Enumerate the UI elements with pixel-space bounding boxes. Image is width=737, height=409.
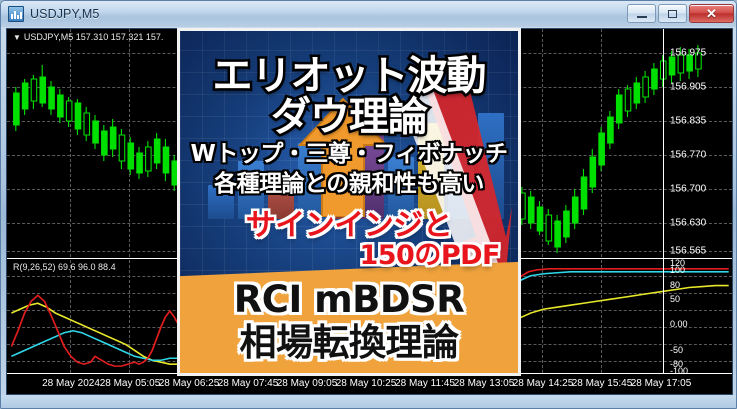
indicator-header: R(9,26,52) 69.6 96.0 88.4 <box>13 262 116 272</box>
chart-window-icon <box>8 6 24 22</box>
time-label: 28 May 07:45 <box>218 378 279 389</box>
price-label: 156.770 <box>670 150 706 161</box>
time-label: 28 May 10:25 <box>336 378 397 389</box>
promo-red-2: 150のPDF <box>180 241 500 271</box>
promo-red-1: サインインジと <box>180 209 518 243</box>
price-label: 156.975 <box>670 48 706 59</box>
price-scale[interactable]: 156.975 156.905 156.835 156.770 156.700 … <box>664 29 732 257</box>
time-label: 28 May 06:25 <box>159 378 220 389</box>
indicator-scale-label: 50 <box>670 294 680 304</box>
indicator-scale-label: 80 <box>670 280 680 290</box>
time-label: 28 May 05:05 <box>100 378 161 389</box>
mt4-chart-window: USDJPY,M5 ✕ <box>0 0 737 409</box>
collapse-triangle-icon[interactable]: ▼ <box>13 33 21 42</box>
minimize-button[interactable] <box>627 4 656 23</box>
time-label: 28 May 13:05 <box>454 378 515 389</box>
promo-headline-1: エリオット波動 <box>180 55 518 97</box>
close-button[interactable]: ✕ <box>689 4 734 23</box>
window-controls: ✕ <box>627 4 734 23</box>
time-axis[interactable]: 28 May 2024 28 May 05:05 28 May 06:25 28… <box>7 373 732 394</box>
close-icon: ✕ <box>706 7 717 20</box>
maximize-button[interactable] <box>658 4 687 23</box>
promo-sub-1: Wトップ・三尊・フィボナッチ <box>180 141 518 168</box>
indicator-scale[interactable]: 120 100 80 50 0.00 -50 -80 -100 <box>664 260 732 373</box>
promo-orange-2: 相場転換理論 <box>180 323 518 363</box>
time-label: 28 May 2024 <box>42 378 100 389</box>
time-label: 28 May 11:45 <box>395 378 455 389</box>
chart-header: ▼USDJPY,M5 157.310 157.321 157. <box>13 32 163 42</box>
promo-overlay[interactable]: エリオット波動 ダウ理論 Wトップ・三尊・フィボナッチ 各種理論との親和性も高い… <box>177 28 521 376</box>
indicator-scale-label: 0.00 <box>670 319 688 329</box>
time-label: 28 May 17:05 <box>631 378 692 389</box>
indicator-scale-label: -100 <box>670 366 688 376</box>
window-title: USDJPY,M5 <box>30 7 99 21</box>
time-label: 28 May 09:05 <box>277 378 338 389</box>
promo-orange-1: RCI mBDSR <box>180 279 518 320</box>
price-label: 156.700 <box>670 184 706 195</box>
minimize-icon <box>637 16 647 18</box>
time-label: 28 May 15:45 <box>572 378 633 389</box>
price-label: 156.905 <box>670 82 706 93</box>
promo-sub-2: 各種理論との親和性も高い <box>180 171 518 198</box>
indicator-scale-label: 100 <box>670 265 685 275</box>
indicator-scale-label: -50 <box>670 345 683 355</box>
price-label: 156.630 <box>670 218 706 229</box>
promo-headline-2: ダウ理論 <box>180 97 518 137</box>
window-bottom-frame <box>1 395 736 408</box>
price-label: 156.565 <box>670 246 706 257</box>
price-label: 156.835 <box>670 116 706 127</box>
chart-header-text: USDJPY,M5 157.310 157.321 157. <box>24 32 163 42</box>
time-label: 28 May 14:25 <box>513 378 574 389</box>
title-bar: USDJPY,M5 ✕ <box>1 1 737 27</box>
maximize-icon <box>668 10 677 18</box>
